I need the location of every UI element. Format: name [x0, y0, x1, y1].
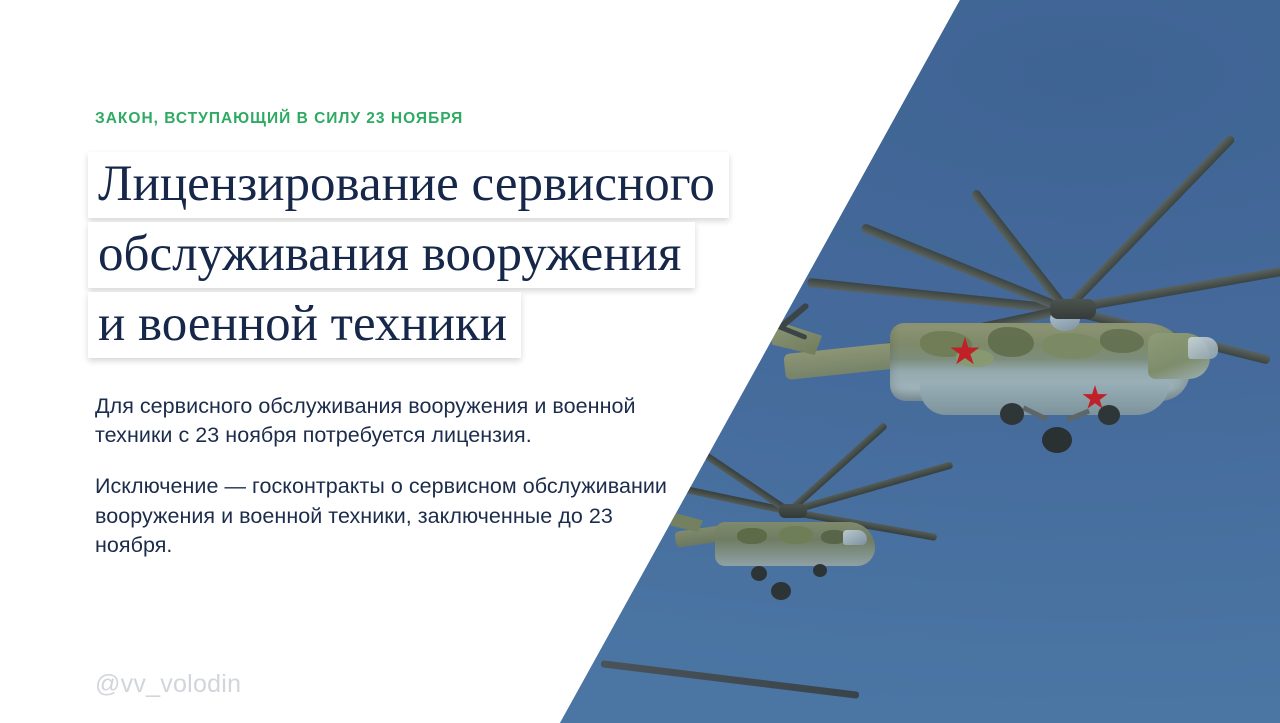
headline-line-2: обслуживания вооружения — [88, 222, 695, 288]
landing-gear-wheel — [751, 566, 767, 581]
landing-gear-wheel — [1098, 405, 1120, 425]
social-handle-watermark: @vv_volodin — [95, 670, 241, 699]
camouflage-patch — [1042, 333, 1102, 359]
headline-line-1: Лицензирование сервисного — [88, 152, 729, 218]
fuselage-belly — [920, 381, 1170, 415]
cockpit-window — [843, 530, 867, 545]
landing-gear-wheel — [1000, 403, 1024, 425]
camouflage-patch — [737, 528, 767, 544]
landing-gear-wheel — [1042, 427, 1072, 453]
mi-8-helicopter — [675, 470, 995, 620]
body-paragraph-2: Исключение — госконтракты о сервисном об… — [95, 472, 695, 560]
camouflage-patch — [988, 327, 1034, 357]
infographic-card: ЗАКОН, ВСТУПАЮЩИЙ В СИЛУ 23 НОЯБРЯ Лицен… — [0, 0, 1280, 723]
landing-gear-wheel — [771, 582, 791, 600]
text-content: ЗАКОН, ВСТУПАЮЩИЙ В СИЛУ 23 НОЯБРЯ Лицен… — [0, 0, 720, 723]
eyebrow-label: ЗАКОН, ВСТУПАЮЩИЙ В СИЛУ 23 НОЯБРЯ — [95, 110, 463, 128]
headline-line-3: и военной техники — [88, 292, 521, 358]
rotor-hub — [779, 504, 807, 518]
camouflage-patch — [779, 526, 813, 544]
landing-gear-wheel — [813, 564, 827, 577]
camouflage-patch — [1100, 329, 1144, 353]
rotor-hub — [1050, 299, 1096, 319]
body-paragraph-1: Для сервисного обслуживания вооружения и… — [95, 392, 695, 450]
body-text: Для сервисного обслуживания вооружения и… — [95, 392, 695, 560]
cockpit-window — [1188, 337, 1218, 359]
page-title: Лицензирование сервисного обслуживания в… — [88, 152, 888, 362]
